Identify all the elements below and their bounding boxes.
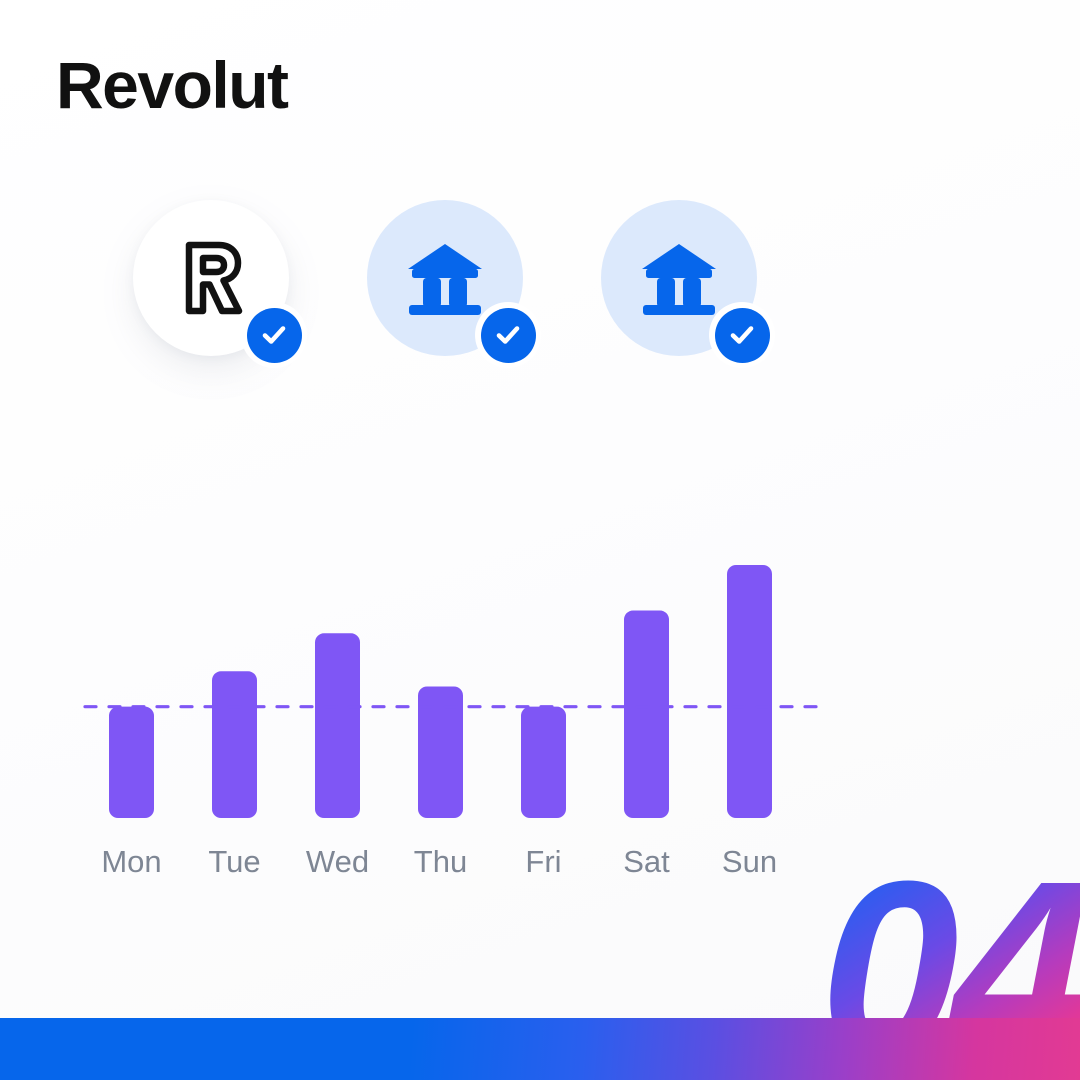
chart-bar[interactable] <box>109 707 154 818</box>
chart-x-label: Sat <box>623 844 670 879</box>
chart-bar[interactable] <box>521 707 566 818</box>
check-icon <box>491 318 525 352</box>
chart-bar[interactable] <box>418 686 463 818</box>
account-chip-bank-2[interactable] <box>601 200 757 356</box>
bank-icon <box>637 236 721 320</box>
account-chip-bank-1[interactable] <box>367 200 523 356</box>
revolut-r-logo-icon <box>165 232 257 324</box>
check-icon <box>257 318 291 352</box>
verified-badge <box>241 302 307 368</box>
chart-x-axis-labels: MonTueWedThuFriSatSun <box>101 844 777 879</box>
chart-x-label: Wed <box>306 844 369 879</box>
account-chip-revolut[interactable] <box>133 200 289 356</box>
chart-x-label: Fri <box>525 844 561 879</box>
verified-badge <box>709 302 775 368</box>
bank-icon <box>403 236 487 320</box>
chart-x-label: Sun <box>722 844 777 879</box>
chart-bar[interactable] <box>212 671 257 818</box>
slide-canvas: Revolut <box>0 0 1080 1080</box>
chart-bar[interactable] <box>315 633 360 818</box>
chart-x-label: Mon <box>101 844 161 879</box>
chart-bar[interactable] <box>727 565 772 818</box>
footer-gradient-band <box>0 1018 1080 1080</box>
verified-badge <box>475 302 541 368</box>
chart-bar[interactable] <box>624 611 669 818</box>
check-icon <box>725 318 759 352</box>
chart-x-label: Tue <box>208 844 260 879</box>
linked-accounts-row <box>0 0 1080 480</box>
chart-x-label: Thu <box>414 844 467 879</box>
chart-bars <box>109 565 772 818</box>
